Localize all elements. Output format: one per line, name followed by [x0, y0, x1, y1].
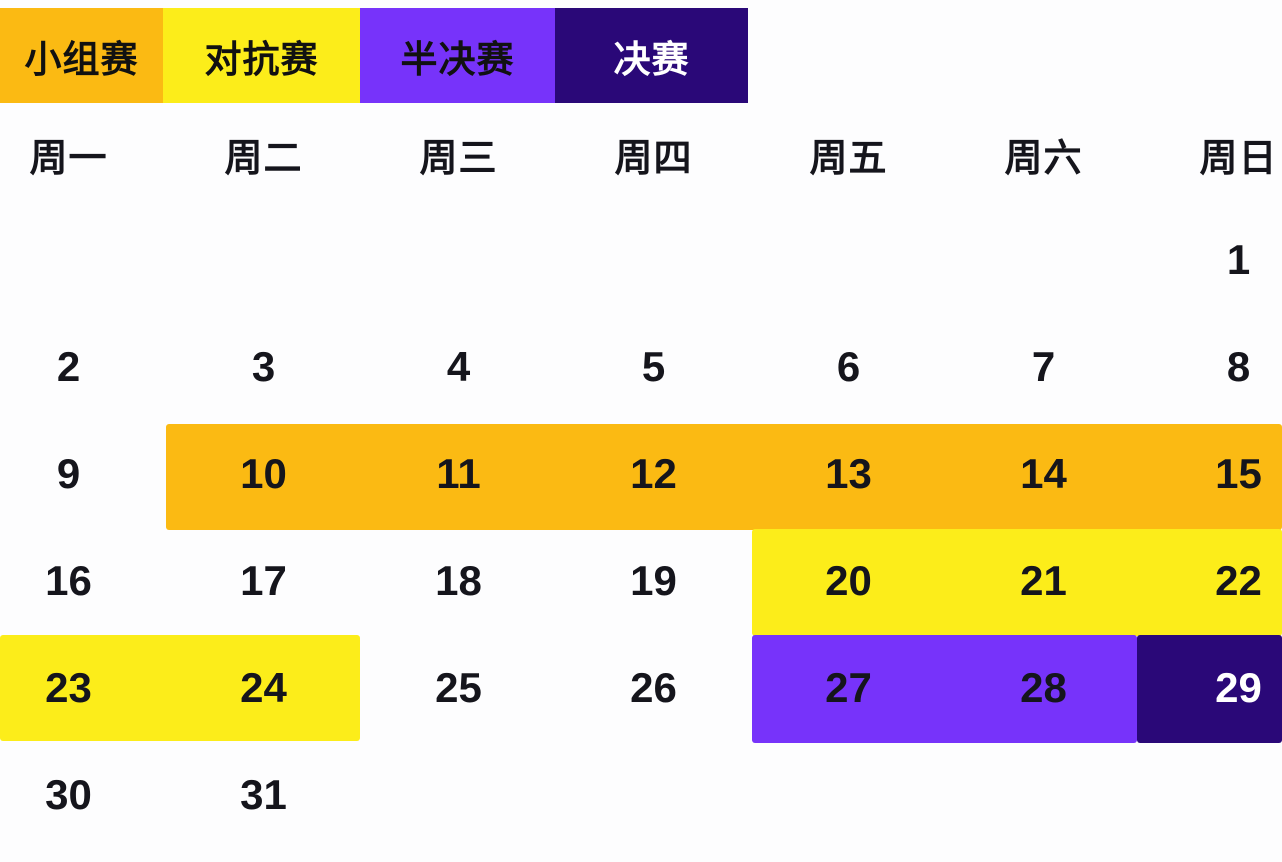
calendar-day-cell[interactable]: 5 — [556, 313, 751, 420]
legend-tab-label: 决赛 — [614, 29, 690, 83]
calendar-day-cell[interactable]: 27 — [751, 634, 946, 741]
calendar-day-cell[interactable]: 22 — [1141, 527, 1282, 634]
weekday-header-2: 周三 — [361, 103, 556, 206]
calendar-day-empty — [166, 206, 361, 313]
legend-tab-label: 小组赛 — [25, 29, 139, 83]
legend-tab-label: 半决赛 — [401, 29, 515, 83]
calendar-day-empty — [946, 206, 1141, 313]
calendar-day-cell[interactable]: 13 — [751, 420, 946, 527]
calendar-grid: 周一周二周三周四周五周六周日 1234567891011121314151617… — [0, 103, 1282, 848]
calendar-day-cell[interactable]: 16 — [0, 527, 166, 634]
weekday-header-1: 周二 — [166, 103, 361, 206]
calendar-day-cell[interactable]: 10 — [166, 420, 361, 527]
calendar-day-cell[interactable]: 6 — [751, 313, 946, 420]
calendar-day-cell[interactable]: 30 — [0, 741, 166, 848]
calendar-day-cell[interactable]: 18 — [361, 527, 556, 634]
weekday-header-3: 周四 — [556, 103, 751, 206]
calendar-day-empty — [1141, 741, 1282, 848]
calendar-day-cell[interactable]: 25 — [361, 634, 556, 741]
weekday-header-6: 周日 — [1141, 103, 1282, 206]
calendar-day-cell[interactable]: 21 — [946, 527, 1141, 634]
calendar-week-row: 2345678 — [0, 313, 1282, 420]
calendar-day-cell[interactable]: 11 — [361, 420, 556, 527]
legend-tab-2[interactable]: 半决赛 — [360, 8, 555, 103]
calendar-day-cell[interactable]: 7 — [946, 313, 1141, 420]
calendar-day-cell[interactable]: 12 — [556, 420, 751, 527]
calendar-day-cell[interactable]: 26 — [556, 634, 751, 741]
calendar-day-cell[interactable]: 28 — [946, 634, 1141, 741]
calendar-week-row: 23242526272829 — [0, 634, 1282, 741]
calendar-day-cell[interactable]: 2 — [0, 313, 166, 420]
calendar-day-cell[interactable]: 24 — [166, 634, 361, 741]
calendar-day-cell[interactable]: 8 — [1141, 313, 1282, 420]
calendar-week-row: 9101112131415 — [0, 420, 1282, 527]
calendar-day-empty — [946, 741, 1141, 848]
calendar-day-cell[interactable]: 14 — [946, 420, 1141, 527]
calendar-day-cell[interactable]: 17 — [166, 527, 361, 634]
calendar-day-empty — [751, 206, 946, 313]
calendar-day-empty — [0, 206, 166, 313]
weekday-header-row: 周一周二周三周四周五周六周日 — [0, 103, 1282, 206]
legend-tab-1[interactable]: 对抗赛 — [163, 8, 360, 103]
calendar-day-cell[interactable]: 31 — [166, 741, 361, 848]
phase-legend: 小组赛对抗赛半决赛决赛 — [0, 8, 748, 103]
calendar-day-empty — [556, 741, 751, 848]
calendar-day-empty — [556, 206, 751, 313]
calendar-day-empty — [361, 206, 556, 313]
weekday-header-5: 周六 — [946, 103, 1141, 206]
calendar-day-cell[interactable]: 9 — [0, 420, 166, 527]
calendar-week-row: 3031 — [0, 741, 1282, 848]
calendar-weeks: 1234567891011121314151617181920212223242… — [0, 206, 1282, 848]
legend-tab-0[interactable]: 小组赛 — [0, 8, 163, 103]
calendar-day-cell[interactable]: 29 — [1141, 634, 1282, 741]
calendar-day-cell[interactable]: 19 — [556, 527, 751, 634]
calendar-day-cell[interactable]: 20 — [751, 527, 946, 634]
calendar-day-cell[interactable]: 1 — [1141, 206, 1282, 313]
calendar-day-cell[interactable]: 4 — [361, 313, 556, 420]
calendar-day-empty — [751, 741, 946, 848]
calendar-day-cell[interactable]: 3 — [166, 313, 361, 420]
weekday-header-4: 周五 — [751, 103, 946, 206]
legend-tab-3[interactable]: 决赛 — [555, 8, 748, 103]
calendar-day-cell[interactable]: 15 — [1141, 420, 1282, 527]
legend-tab-label: 对抗赛 — [205, 29, 319, 83]
calendar-day-empty — [361, 741, 556, 848]
weekday-header-0: 周一 — [0, 103, 166, 206]
calendar-day-cell[interactable]: 23 — [0, 634, 166, 741]
calendar-week-row: 16171819202122 — [0, 527, 1282, 634]
calendar-week-row: 1 — [0, 206, 1282, 313]
